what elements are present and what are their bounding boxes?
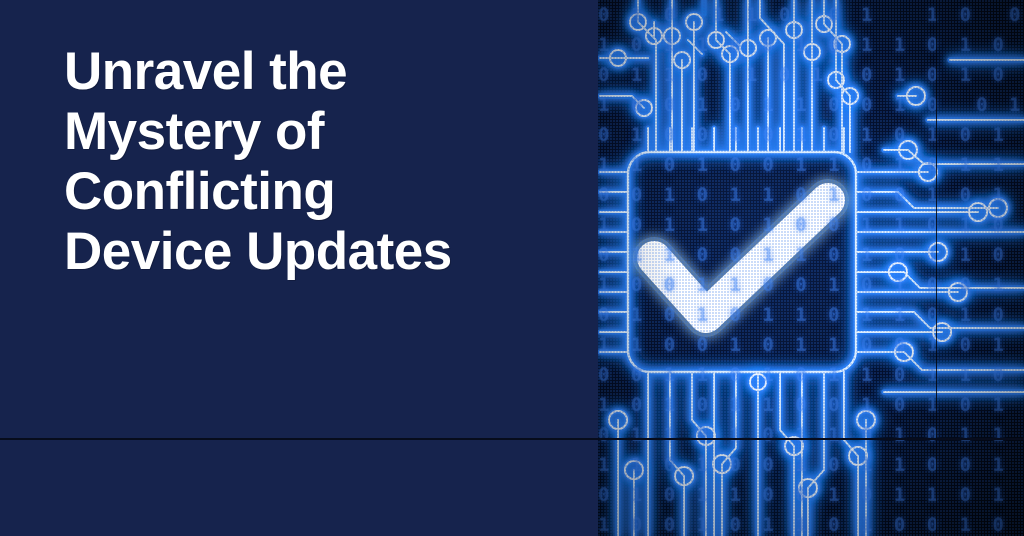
page-title: Unravel the Mystery of Conflicting Devic… xyxy=(64,42,564,282)
banner-canvas: Unravel the Mystery of Conflicting Devic… xyxy=(0,0,1024,536)
left-navy-panel: Unravel the Mystery of Conflicting Devic… xyxy=(0,0,598,536)
circuit-board-image: 0 1 0 1 1 0 0 1 1 0 0 0 1 0 1 1 0 0 1 0 … xyxy=(598,0,1024,536)
horizontal-divider xyxy=(0,438,1024,440)
checkmark-icon xyxy=(654,200,828,316)
circuit-traces-svg xyxy=(598,0,1024,536)
vertical-divider xyxy=(936,0,937,536)
